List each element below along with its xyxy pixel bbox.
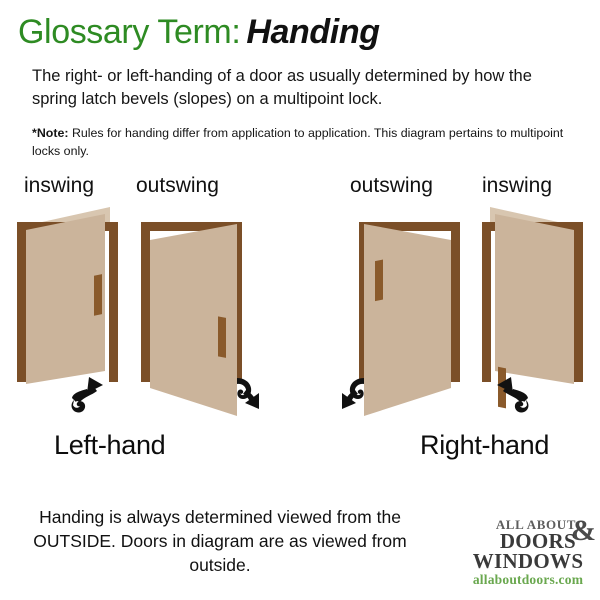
curve-down-right-arrow (237, 378, 259, 409)
page-title: Glossary Term:Handing (18, 12, 380, 52)
footer-note: Handing is always determined viewed from… (10, 505, 430, 577)
door-slab (26, 214, 105, 384)
curve-down-left-arrow (342, 378, 364, 409)
note-text: Rules for handing differ from applicatio… (32, 126, 563, 158)
page-title-prefix: Glossary Term: (18, 13, 240, 51)
door-frame-left-jamb (17, 222, 26, 382)
hand-label-left: Left-hand (54, 430, 165, 460)
glossary-diagram-page: Glossary Term:Handing The right- or left… (0, 0, 600, 600)
hand-label-right: Right-hand (420, 430, 549, 460)
door-frame-right-jamb (451, 222, 460, 382)
door-left-outswing (141, 222, 259, 416)
logo-line-windows: WINDOWS (458, 550, 598, 572)
door-left-inswing (17, 207, 118, 413)
brand-logo[interactable]: ALL ABOUT & DOORS WINDOWS allaboutdoors.… (458, 516, 598, 592)
door-right-inswing (482, 207, 583, 413)
note-block: *Note: Rules for handing differ from app… (32, 124, 572, 160)
definition-text: The right- or left-handing of a door as … (32, 65, 577, 111)
door-latch (218, 316, 226, 358)
doors-illustration (0, 194, 600, 426)
door-frame-left-jamb (482, 222, 491, 382)
door-frame-left-jamb (141, 222, 150, 382)
note-label: *Note: (32, 126, 68, 140)
door-latch (375, 260, 383, 302)
door-slab (364, 224, 451, 416)
page-title-term: Handing (240, 13, 379, 51)
door-right-outswing (342, 222, 460, 416)
door-frame-right-jamb (574, 222, 583, 382)
curve-up-right-arrow (72, 377, 103, 413)
door-latch (94, 274, 102, 316)
door-slab (495, 214, 574, 384)
logo-website-url[interactable]: allaboutdoors.com (458, 572, 598, 587)
handing-diagram: inswing outswing outswing inswing (0, 168, 600, 478)
door-frame-right-jamb (109, 222, 118, 382)
